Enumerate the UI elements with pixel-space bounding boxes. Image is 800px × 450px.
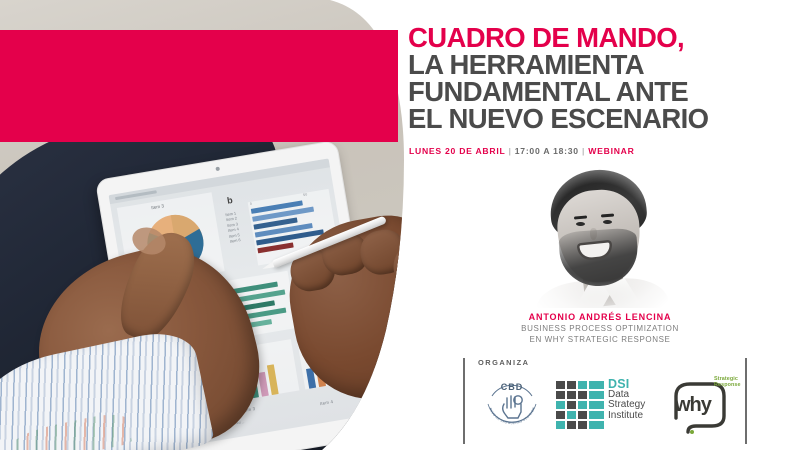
speaker-role-line-1: BUSINESS PROCESS OPTIMIZATION [450,324,750,335]
speaker-portrait [524,168,674,308]
event-time: 17:00 A 18:30 [515,146,579,156]
meta-separator: | [508,146,511,156]
portrait-vignette [524,168,674,308]
pink-banner [0,30,398,142]
pie-chart-title: Item 3 [151,203,164,210]
vbar-group-label: Item 4 [319,399,333,406]
cbd-abbr-text: CBD [501,382,524,392]
speaker-name: ANTONIO ANDRÉS LENCINA [450,312,750,322]
title-line-4: EL NUEVO ESCENARIO [408,105,790,132]
dsi-logo[interactable]: DSI Data Strategy Institute [556,380,658,432]
title-line-2: LA HERRAMIENTA [408,51,790,78]
organizer-logos: CBD EL CLUB DE LAS BUENAS DECISIONES [470,372,742,442]
dsi-word-institute: Institute [608,411,645,422]
knuckle [357,226,410,277]
event-format: WEBINAR [588,146,634,156]
tablet-camera-icon [215,167,220,172]
speaker-info: ANTONIO ANDRÉS LENCINA BUSINESS PROCESS … [450,312,750,345]
title-line-3: FUNDAMENTAL ANTE [408,78,790,105]
why-logo[interactable]: why Strategic Response [666,372,744,440]
letter-widget: b [226,195,233,206]
speaker-role-line-2: EN WHY STRATEGIC RESPONSE [450,335,750,346]
cbd-logo-icon: CBD EL CLUB DE LAS BUENAS DECISIONES [480,374,544,438]
why-dot-icon [690,430,694,434]
why-tagline: Strategic Response [714,376,741,388]
title-block: CUADRO DE MANDO, LA HERRAMIENTA FUNDAMEN… [408,24,790,132]
organiza-label: ORGANIZA [478,358,529,367]
dsi-grid-icon [556,381,604,429]
organizer-divider-right [745,358,747,444]
item-label-list: Item 1 Item 2 Item 3 Item 4 Item 5 Item … [225,210,241,244]
poster-canvas: Item 3 b Item 1 Item 2 Item 3 [0,0,800,450]
title-line-1: CUADRO DE MANDO, [408,24,790,51]
why-tagline-line-2: Response [714,382,741,388]
dsi-abbr: DSI [608,379,645,390]
cbd-logo[interactable]: CBD EL CLUB DE LAS BUENAS DECISIONES [480,374,544,438]
item-label: Item 6 [229,237,241,244]
dsi-wordmark: DSI Data Strategy Institute [608,379,645,421]
event-meta: LUNES 20 DE ABRIL | 17:00 A 18:30 | WEBI… [409,146,635,156]
meta-separator: | [582,146,585,156]
why-wordmark: why [675,394,711,417]
organizer-divider-left [463,358,465,444]
event-date: LUNES 20 DE ABRIL [409,146,505,156]
